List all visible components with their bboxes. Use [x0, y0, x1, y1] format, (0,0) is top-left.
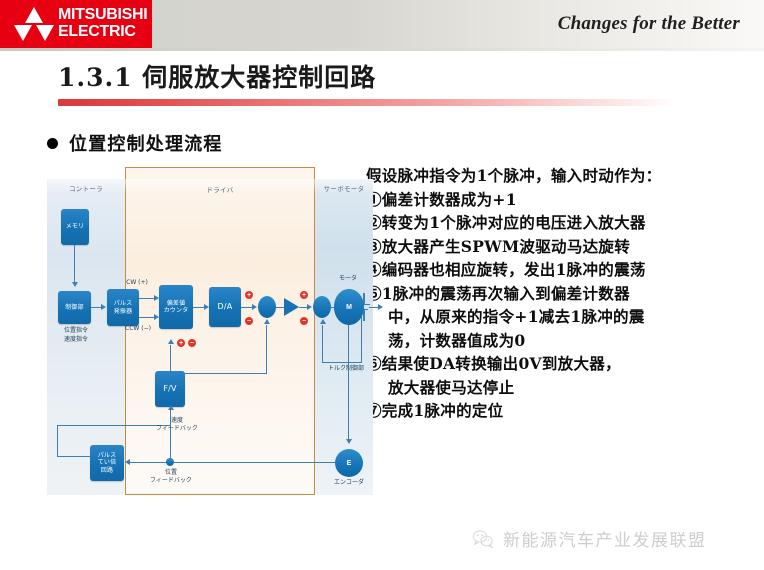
mitsubishi-logo-box: MITSUBISHI ELECTRIC: [0, 0, 152, 48]
line-encoder-feedback-bus: [127, 462, 335, 463]
line-motor-to-encoder: [348, 325, 349, 441]
line-torque-fb-horizontal: [322, 362, 362, 363]
block-pulse-multiplier-label-2: てい倍: [98, 459, 117, 467]
block-da-converter: D/A: [209, 287, 241, 327]
caption-position-feedback: 位置 フィードバック: [145, 469, 197, 485]
note-line: ⑦完成1脉冲的定位: [366, 399, 762, 423]
caption-cw: CW (+): [117, 279, 157, 287]
sign-plus-sum2-text: +: [302, 292, 306, 299]
sign-minus-sum1: −: [245, 317, 253, 325]
block-fv-converter: F/V: [155, 371, 185, 407]
block-pulse-oscillator: パルス 発振器: [107, 289, 139, 326]
bullet-dot-icon: [47, 138, 58, 149]
mitsubishi-three-diamonds-logo: [10, 6, 58, 42]
brand-name-line1: MITSUBISHI: [58, 7, 147, 24]
summing-junction-current-loop: [313, 296, 331, 318]
block-control-unit-label: 制御部: [65, 304, 84, 312]
note-line: 放大器使马达停止: [366, 376, 762, 400]
note-line: ④编码器也相应旋转，发出1脉冲的震荡: [366, 258, 762, 282]
arrow-up-speed-feedback: [168, 405, 174, 410]
note-line: ①偏差计数器成为+1: [366, 188, 762, 212]
motor-circle: M: [334, 289, 364, 325]
encoder-circle-label: E: [347, 460, 352, 467]
line-multiplier-out-left: [57, 456, 91, 457]
arrow-up-position-feedback: [168, 339, 174, 344]
section-bullet: 位置控制处理流程: [47, 130, 223, 156]
sign-plus-counter: +: [177, 339, 185, 347]
sign-minus-sum1-text: −: [247, 318, 251, 325]
arrow-right-da-to-sum1: [252, 304, 257, 310]
encoder-circle: E: [335, 449, 363, 477]
caption-motor: モータ: [324, 275, 372, 283]
line-fv-out-right: [185, 373, 267, 374]
caption-torque-control: トルク制御部: [315, 365, 377, 373]
caption-encoder-text: エンコーダ: [334, 479, 364, 486]
block-pulse-oscillator-label-2: 発振器: [114, 308, 133, 316]
note-line: 中，从原来的指令+1减去1脉冲的震: [366, 305, 762, 329]
line-cw-signal: [139, 298, 155, 299]
line-speed-feedback-up: [170, 407, 171, 462]
watermark: 新能源汽车产业发展联盟: [472, 526, 707, 551]
block-memory: メモリ: [61, 209, 89, 245]
title-underline-rule: [58, 99, 677, 106]
header-divider: [0, 48, 764, 51]
line-torque-sense-down: [361, 317, 362, 363]
caption-ccw: CCW (−): [117, 325, 159, 333]
line-memory-to-control: [74, 245, 75, 283]
block-deviation-counter-label-2: カウンタ: [164, 307, 189, 315]
arrow-up-fv-to-sum1: [264, 319, 270, 324]
line-ccw-signal: [139, 317, 155, 318]
caption-position-feedback-line1: 位置: [165, 469, 177, 476]
panel-driver-label: ドライバ: [126, 184, 314, 194]
line-sum1-to-amp1: [276, 307, 284, 308]
caption-encoder: エンコーダ: [324, 479, 374, 487]
page-title: 1.3.1 伺服放大器控制回路: [58, 58, 718, 94]
block-deviation-counter-label-1: 偏差値: [167, 300, 186, 308]
panel-servo-motor: サーボモータ: [315, 179, 373, 495]
sign-plus-sum1-text: +: [247, 292, 251, 299]
block-deviation-counter: 偏差値 カウンタ: [159, 285, 193, 329]
caption-cw-text: CW (+): [126, 279, 148, 286]
arrow-up-torque-feedback: [320, 319, 326, 324]
caption-position-command: 位置指令: [53, 327, 99, 335]
amplifier-speed-stage: [284, 298, 299, 316]
caption-speed-feedback-line2: フィードバック: [156, 425, 198, 432]
note-line: 假设脉冲指令为1个脉冲，输入时动作为：: [366, 164, 762, 188]
caption-position-feedback-line2: フィードバック: [150, 477, 192, 484]
sign-plus-sum1: +: [245, 291, 253, 299]
line-multiplier-up: [57, 425, 58, 457]
note-line: ⑥结果使DA转换输出0V到放大器，: [366, 352, 762, 376]
block-fv-converter-label: F/V: [163, 385, 176, 393]
panel-controller-label: コントーラ: [47, 183, 125, 193]
caption-position-command-text: 位置指令: [64, 327, 88, 334]
brand-wordmark: MITSUBISHI ELECTRIC: [58, 7, 147, 40]
note-line: ⑤1脉冲的震荡再次输入到偏差计数器: [366, 282, 762, 306]
arrow-down-motor-to-encoder: [346, 439, 352, 444]
explanation-text-block: 假设脉冲指令为1个脉冲，输入时动作为： ①偏差计数器成为+1 ②转变为1个脉冲对…: [366, 164, 762, 423]
arrow-right-bus-to-motor: [378, 304, 383, 310]
sign-minus-counter: −: [188, 339, 196, 347]
line-torque-fb-up: [322, 325, 323, 363]
caption-speed-feedback: 速度 フィードバック: [147, 417, 207, 433]
caption-speed-command: 速度指令: [53, 336, 99, 344]
block-da-converter-label: D/A: [218, 303, 233, 311]
sign-minus-sum2: −: [300, 317, 308, 325]
arrow-down-memory-to-control: [72, 282, 78, 287]
summing-junction-speed-loop: [258, 296, 276, 318]
arrow-right-control-to-pulse-osc: [101, 304, 106, 310]
caption-torque-control-text: トルク制御部: [328, 365, 364, 372]
line-fv-out-up: [266, 343, 267, 373]
block-memory-label: メモリ: [66, 223, 85, 231]
wechat-icon: [472, 529, 494, 549]
block-pulse-multiplier-label-3: 回路: [101, 467, 113, 475]
brand-header: MITSUBISHI ELECTRIC Changes for the Bett…: [0, 0, 764, 48]
block-pulse-oscillator-label-1: パルス: [114, 300, 133, 308]
caption-speed-feedback-line1: 速度: [171, 417, 183, 424]
note-line: ③放大器产生SPWM波驱动马达旋转: [366, 235, 762, 259]
arrow-right-amp1-to-sum2: [307, 304, 312, 310]
sign-plus-counter-text: +: [179, 340, 183, 347]
caption-motor-text: モータ: [339, 275, 357, 282]
note-line: 荡，计数器值成为0: [366, 329, 762, 353]
sign-minus-sum2-text: −: [302, 318, 306, 325]
watermark-text: 新能源汽车产业发展联盟: [503, 526, 707, 551]
arrow-left-encoder-feedback: [125, 459, 130, 465]
block-control-unit: 制御部: [58, 291, 91, 324]
sign-plus-sum2: +: [300, 291, 308, 299]
servo-control-block-diagram: コントーラ ドライバ サーボモータ メモリ 制御部 位置指令 速度指令 パルス …: [47, 167, 373, 495]
motor-circle-label: M: [346, 304, 352, 311]
section-bullet-label: 位置控制处理流程: [69, 130, 223, 156]
caption-ccw-text: CCW (−): [125, 325, 151, 332]
block-pulse-multiplier: パルス てい倍 回路: [90, 445, 124, 481]
note-line: ②转变为1个脉冲对应的电压进入放大器: [366, 211, 762, 235]
brand-name-line2: ELECTRIC: [58, 24, 147, 41]
brand-tagline: Changes for the Better: [558, 13, 740, 35]
sign-minus-counter-text: −: [190, 340, 194, 347]
panel-servo-motor-label: サーボモータ: [315, 183, 373, 193]
title-block: 1.3.1 伺服放大器控制回路: [58, 58, 718, 106]
caption-speed-command-text: 速度指令: [64, 336, 88, 343]
